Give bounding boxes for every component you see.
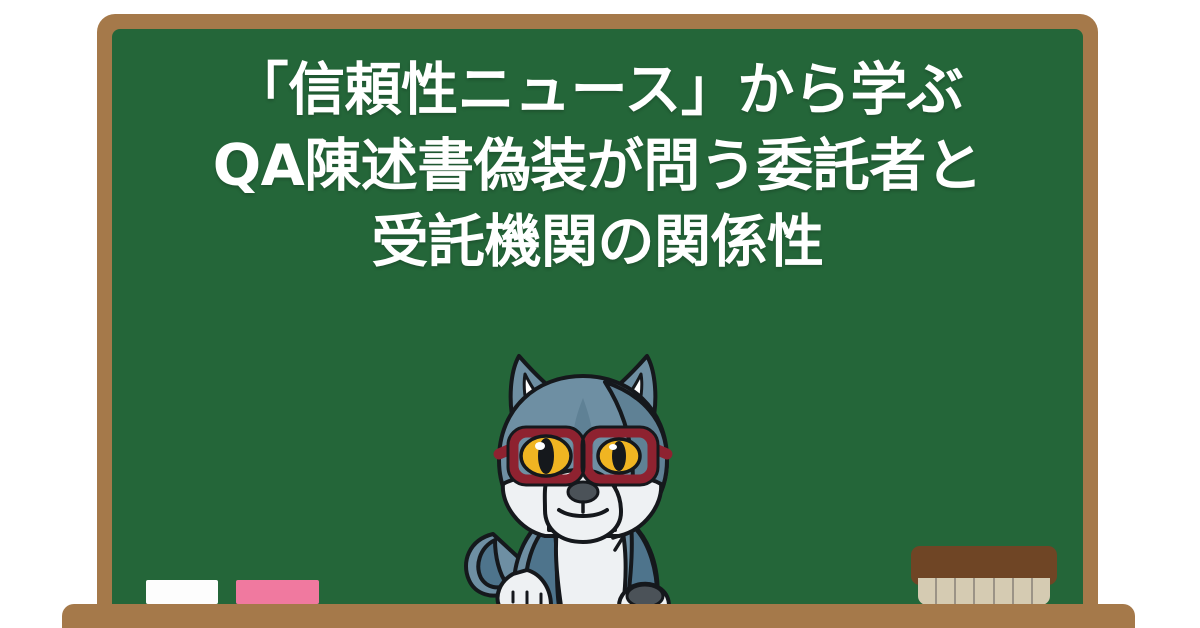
eraser-segment: [975, 578, 994, 605]
white-chalk: [146, 580, 218, 604]
eraser-pad: [918, 578, 1050, 605]
blackboard-eraser: [911, 546, 1057, 605]
eraser-segment: [995, 578, 1014, 605]
eraser-segment: [918, 578, 937, 605]
eraser-segment: [937, 578, 956, 605]
wolf-mascot-illustration: [455, 334, 710, 606]
eraser-segment: [1033, 578, 1050, 605]
thumbnail-canvas: 「信頼性ニュース」から学ぶ QA陳述書偽装が問う委託者と 受託機関の関係性: [0, 0, 1200, 628]
pink-chalk: [236, 580, 319, 604]
eraser-segment: [1014, 578, 1033, 605]
eraser-segment: [956, 578, 975, 605]
blackboard-ledge: [62, 604, 1135, 628]
